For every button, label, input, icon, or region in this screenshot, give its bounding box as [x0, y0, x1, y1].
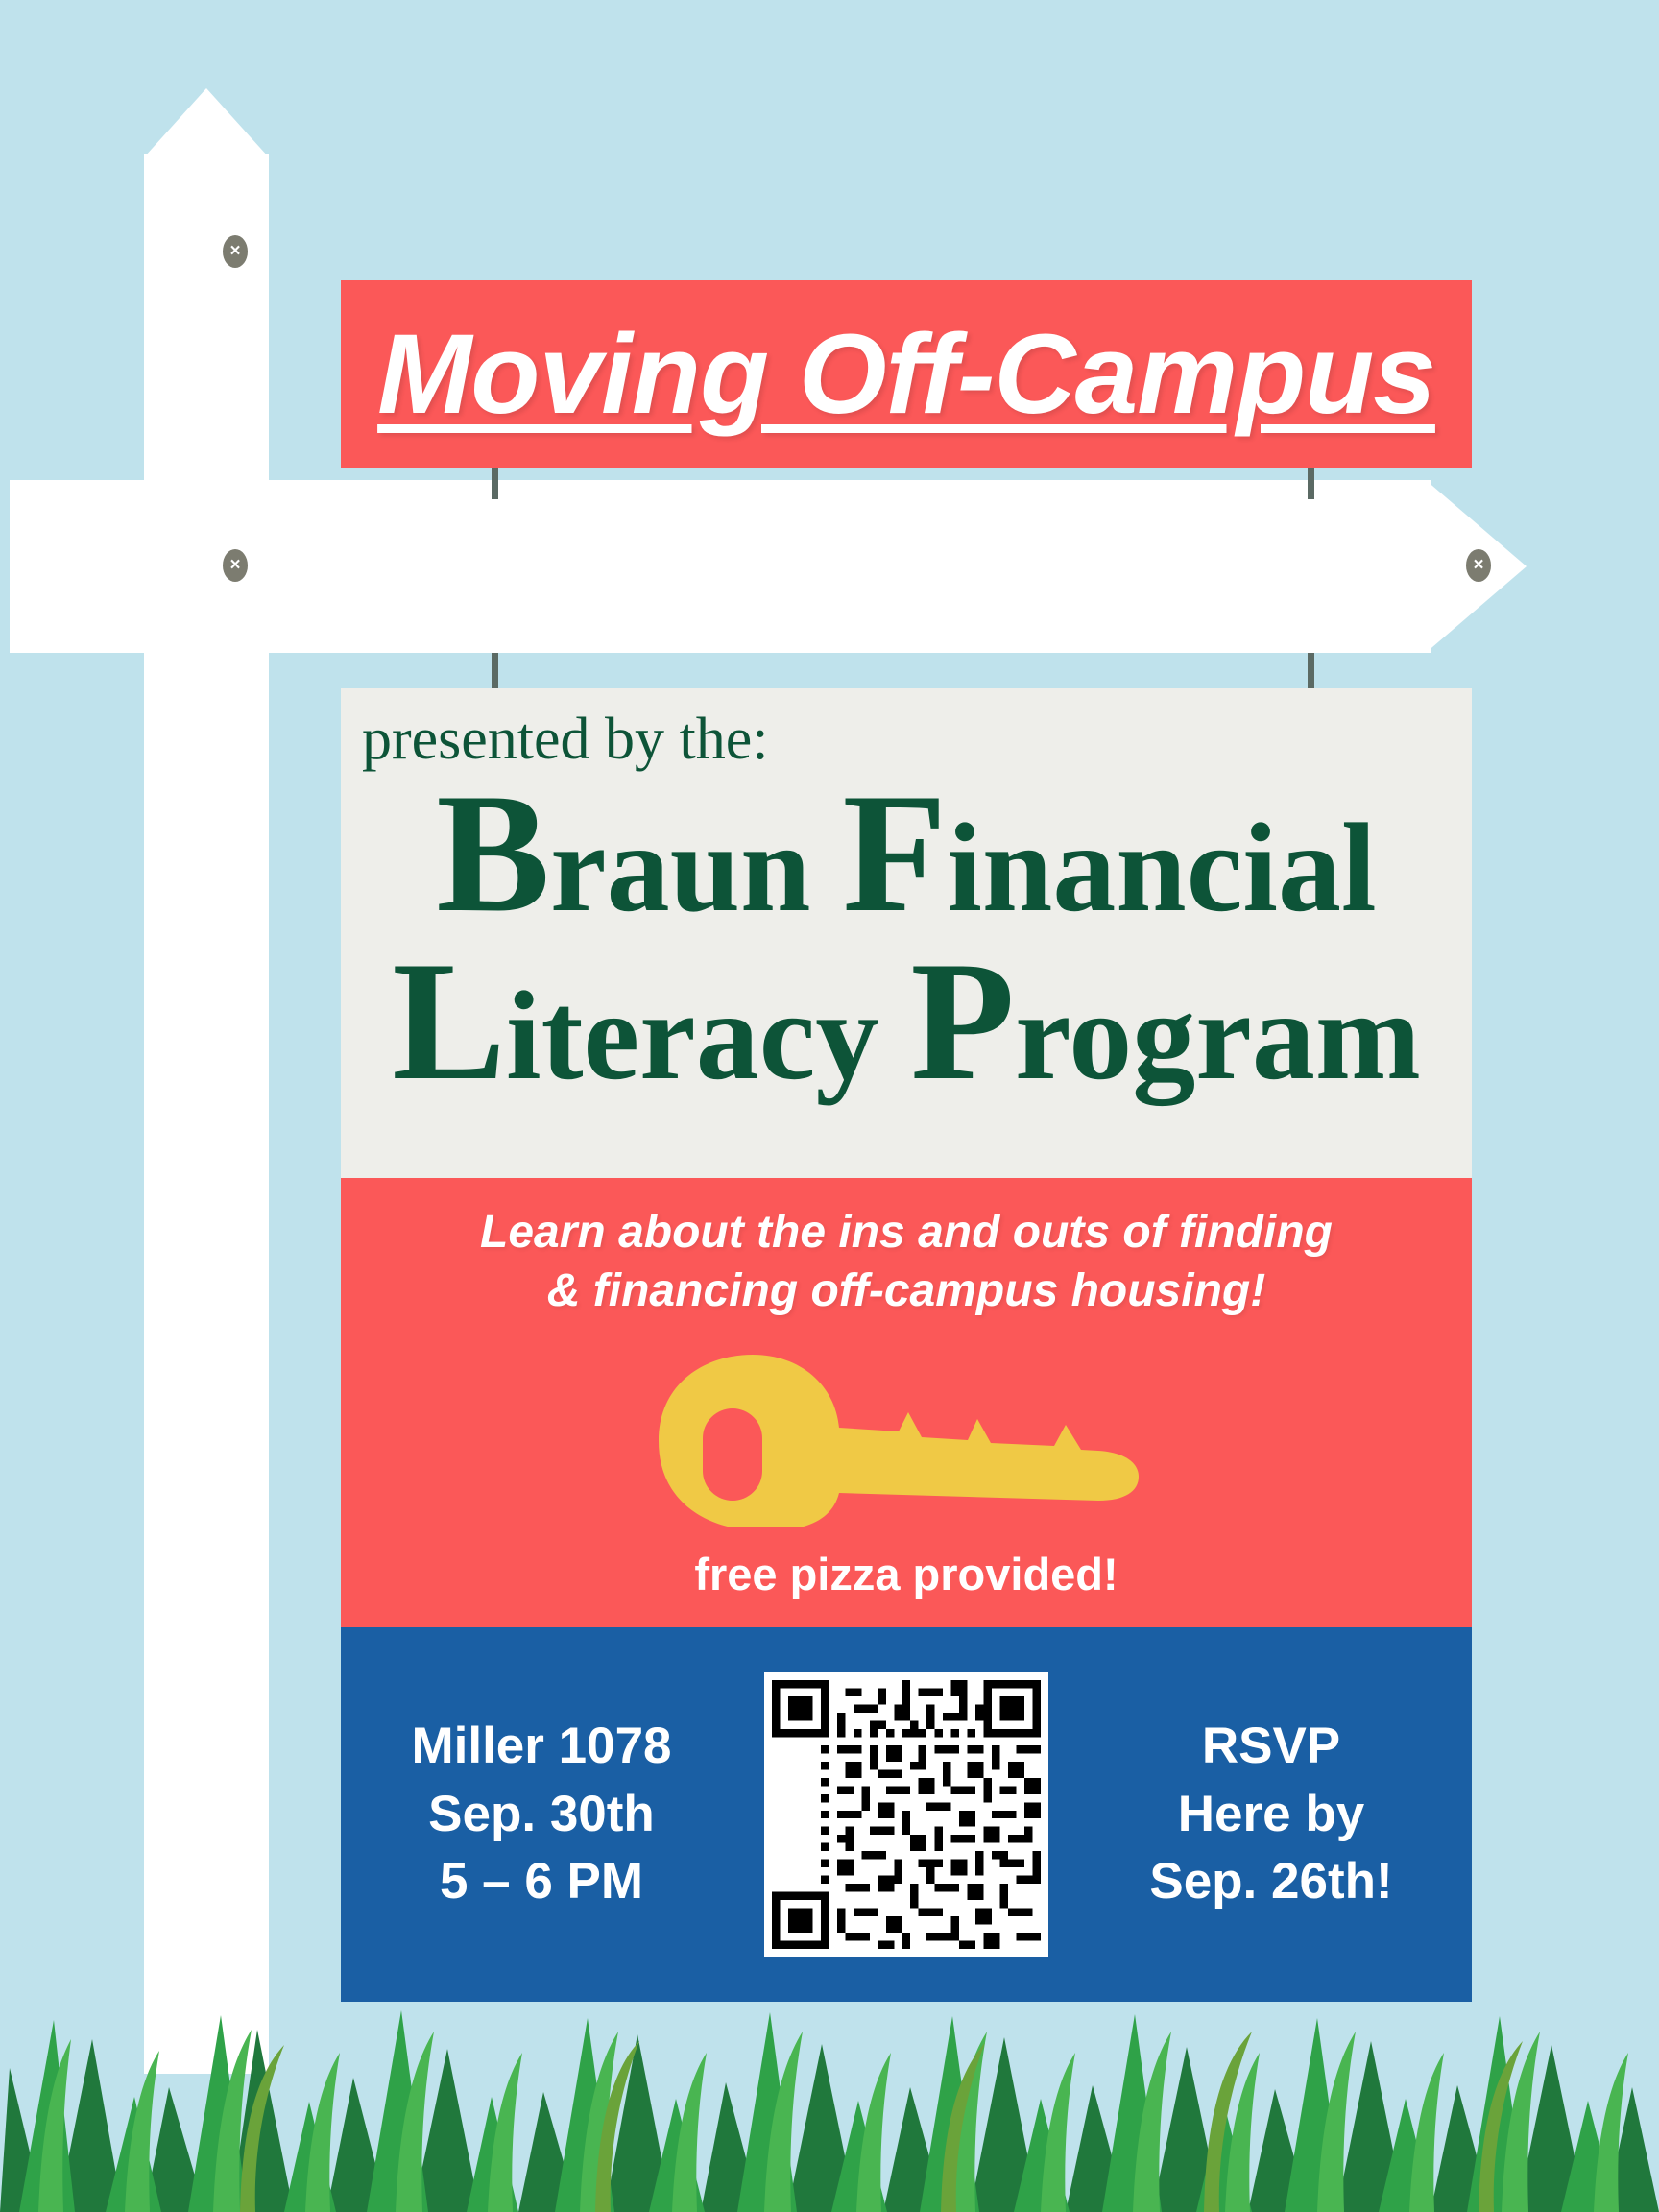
rsvp-line-1: RSVP — [1103, 1713, 1439, 1780]
org-word-raun: raun — [550, 797, 810, 938]
organization-name-line-1: Braun Financial — [341, 771, 1472, 935]
page-title: Moving Off-Campus — [377, 309, 1435, 440]
screw-icon: × — [223, 549, 248, 582]
tagline-panel: Learn about the ins and outs of finding … — [341, 1178, 1472, 1627]
event-when-where: Miller 1078 Sep. 30th 5 – 6 PM — [373, 1713, 709, 1915]
org-word-rogram: rogram — [1015, 965, 1421, 1106]
qr-code-holder[interactable] — [748, 1671, 1065, 1959]
org-initial-f: F — [842, 757, 947, 948]
hanging-rod — [492, 653, 498, 691]
rsvp-line-2: Here by — [1103, 1781, 1439, 1848]
poster-canvas: × × × Moving Off-Campus presented by the… — [0, 0, 1659, 2212]
screw-icon: × — [1466, 549, 1491, 582]
grass-icon — [0, 1924, 1659, 2212]
org-word-iteracy: iteracy — [506, 965, 878, 1106]
tagline-line-1: Learn about the ins and outs of finding — [341, 1203, 1472, 1262]
title-banner: Moving Off-Campus — [341, 280, 1472, 468]
key-icon — [341, 1349, 1472, 1527]
hanging-rod — [1308, 653, 1314, 691]
event-time: 5 – 6 PM — [373, 1848, 709, 1915]
key-graphic — [647, 1349, 1166, 1527]
organization-panel: presented by the: Braun Financial Litera… — [341, 688, 1472, 1178]
rsvp-block: RSVP Here by Sep. 26th! — [1103, 1713, 1439, 1915]
signpost-vertical — [144, 154, 269, 2074]
screw-icon: × — [223, 235, 248, 268]
rsvp-line-3: Sep. 26th! — [1103, 1848, 1439, 1915]
org-word-inancial: inancial — [947, 797, 1376, 938]
tagline-line-2: & financing off-campus housing! — [341, 1262, 1472, 1320]
org-initial-p: P — [910, 926, 1015, 1116]
org-initial-b: B — [436, 757, 550, 948]
org-initial-l: L — [392, 926, 506, 1116]
signpost-tip-icon — [144, 88, 269, 157]
qr-code-icon[interactable] — [764, 1672, 1048, 1957]
organization-name-line-2: Literacy Program — [341, 939, 1472, 1103]
pizza-note: free pizza provided! — [341, 1548, 1472, 1600]
event-location: Miller 1078 — [373, 1713, 709, 1780]
event-date: Sep. 30th — [373, 1781, 709, 1848]
tagline-block: Learn about the ins and outs of finding … — [341, 1178, 1472, 1321]
